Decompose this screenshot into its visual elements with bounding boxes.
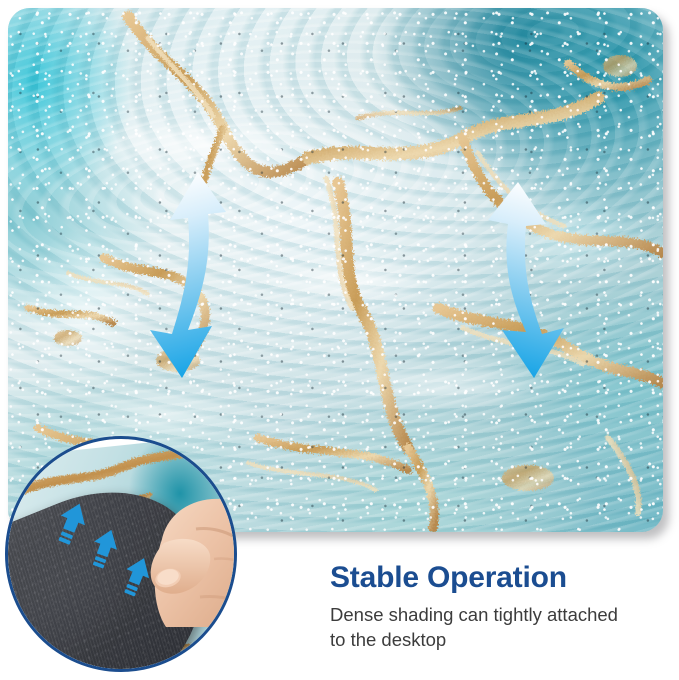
caption-body-line-1: Dense shading can tightly attached: [330, 604, 618, 625]
product-image-canvas: Stable Operation Dense shading can tight…: [0, 0, 679, 680]
hand-lifting-pad: [126, 477, 234, 627]
caption-body: Dense shading can tightly attachedto the…: [330, 602, 660, 652]
caption-body-line-2: to the desktop: [330, 629, 446, 650]
caption-block: Stable Operation Dense shading can tight…: [330, 560, 660, 652]
anti-slip-base-inset: [5, 436, 237, 672]
caption-heading: Stable Operation: [330, 560, 660, 596]
